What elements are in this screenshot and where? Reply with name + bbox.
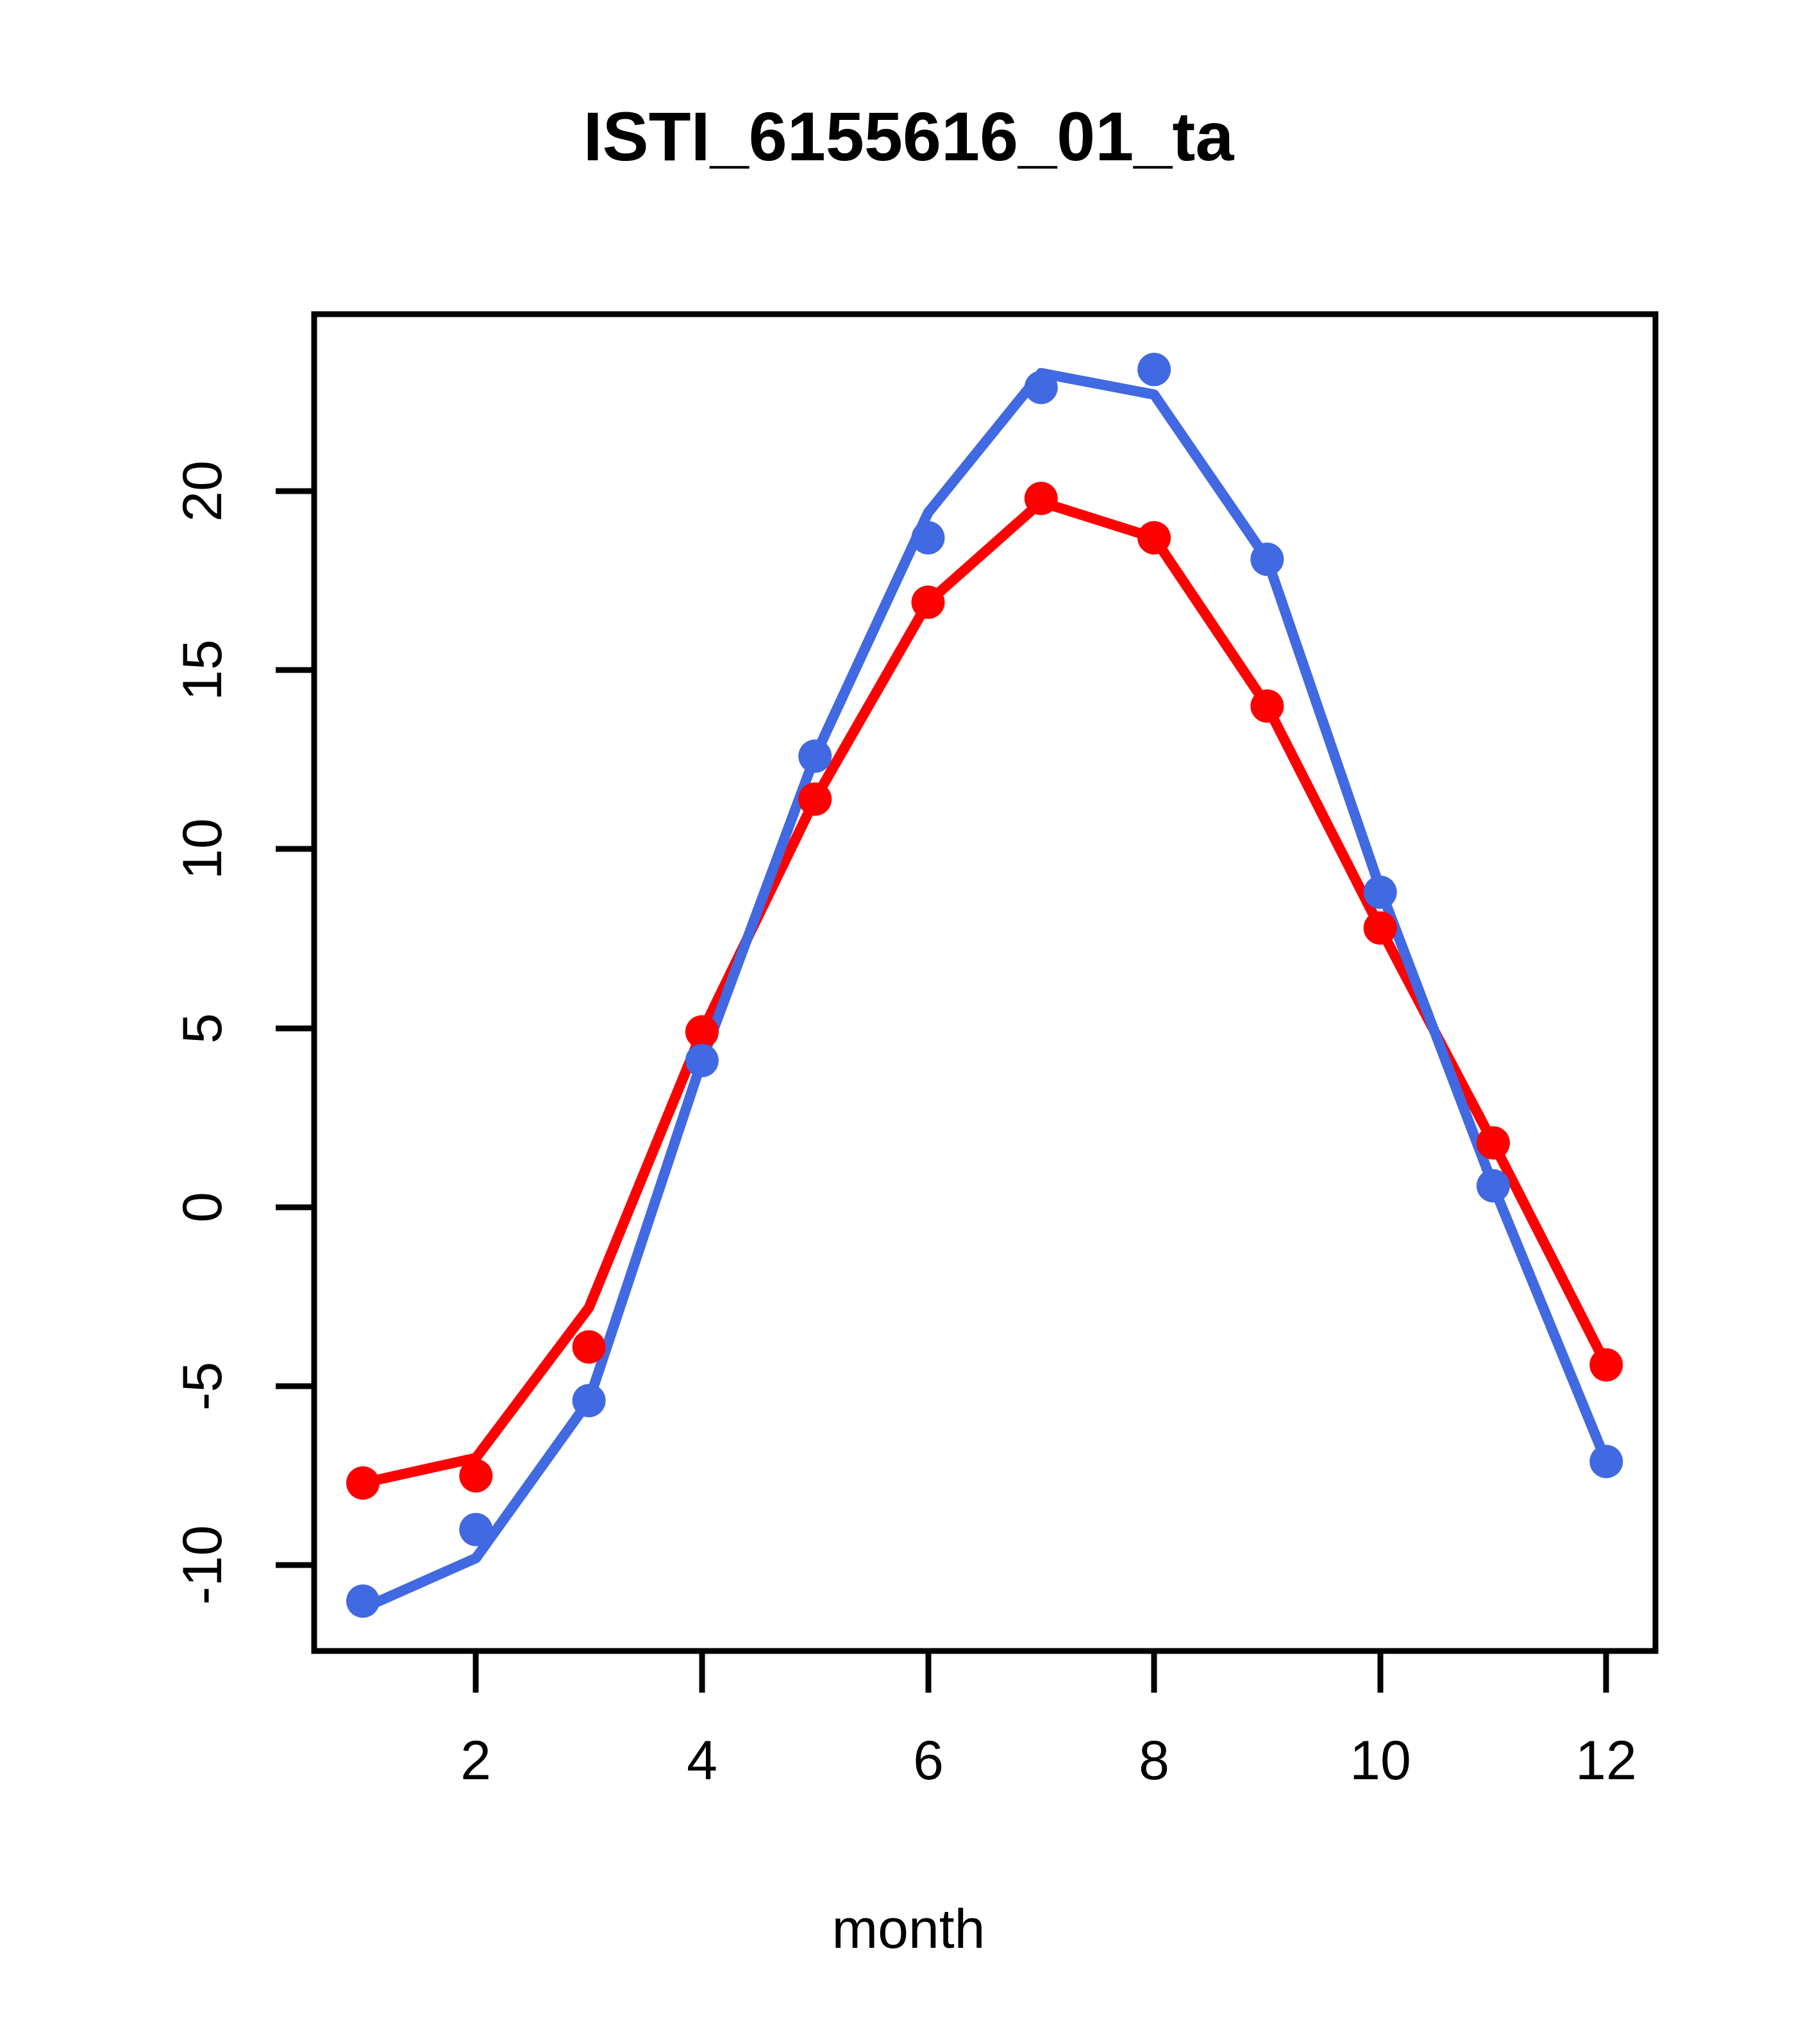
data-point [1250, 689, 1284, 723]
data-point [1025, 371, 1058, 404]
y-tick-label-15: 15 [172, 639, 233, 701]
x-axis-ticks [476, 1651, 1606, 1693]
data-point [573, 1330, 606, 1364]
data-point [1589, 1348, 1623, 1382]
data-point [798, 782, 832, 816]
y-tick-label-5: 5 [172, 1013, 233, 1044]
data-point [1364, 911, 1397, 944]
data-point [1137, 521, 1171, 555]
y-tick-label-m10: -10 [172, 1525, 233, 1605]
data-point [346, 1466, 380, 1500]
data-point [1477, 1127, 1510, 1160]
data-point [459, 1459, 492, 1493]
y-axis-ticks [276, 491, 314, 1565]
data-point [798, 739, 832, 773]
x-axis-labels: 2 4 6 8 10 12 [460, 1730, 1637, 1791]
data-point [912, 585, 945, 619]
y-axis-labels: 20 15 10 5 0 -5 -10 [172, 460, 233, 1605]
y-tick-label-0: 0 [172, 1192, 233, 1223]
x-tick-label-6: 6 [913, 1730, 944, 1791]
y-tick-label-10: 10 [172, 818, 233, 880]
data-point [573, 1384, 606, 1418]
x-tick-label-2: 2 [460, 1730, 491, 1791]
data-point [1477, 1169, 1510, 1203]
data-point [685, 1044, 719, 1077]
data-point [459, 1513, 492, 1546]
chart-page: ISTI_6155616_01_ta 20 15 10 5 0 -5 -10 [0, 0, 1817, 2044]
data-point [685, 1015, 719, 1048]
plot-frame [314, 314, 1655, 1651]
line-chart: 20 15 10 5 0 -5 -10 2 4 6 8 10 12 [0, 0, 1817, 2044]
data-point [1137, 353, 1171, 386]
data-point [1364, 876, 1397, 909]
x-tick-label-12: 12 [1575, 1730, 1637, 1791]
x-tick-label-10: 10 [1350, 1730, 1411, 1791]
series-layer [346, 353, 1623, 1618]
x-axis-title: month [0, 1898, 1817, 1961]
y-tick-label-20: 20 [172, 460, 233, 522]
data-point [1589, 1445, 1623, 1479]
data-point [346, 1584, 380, 1618]
y-tick-label-m5: -5 [172, 1362, 233, 1411]
x-tick-label-8: 8 [1139, 1730, 1169, 1791]
data-point [1025, 482, 1058, 515]
data-point [1250, 542, 1284, 576]
x-tick-label-4: 4 [687, 1730, 717, 1791]
data-point [912, 521, 945, 555]
